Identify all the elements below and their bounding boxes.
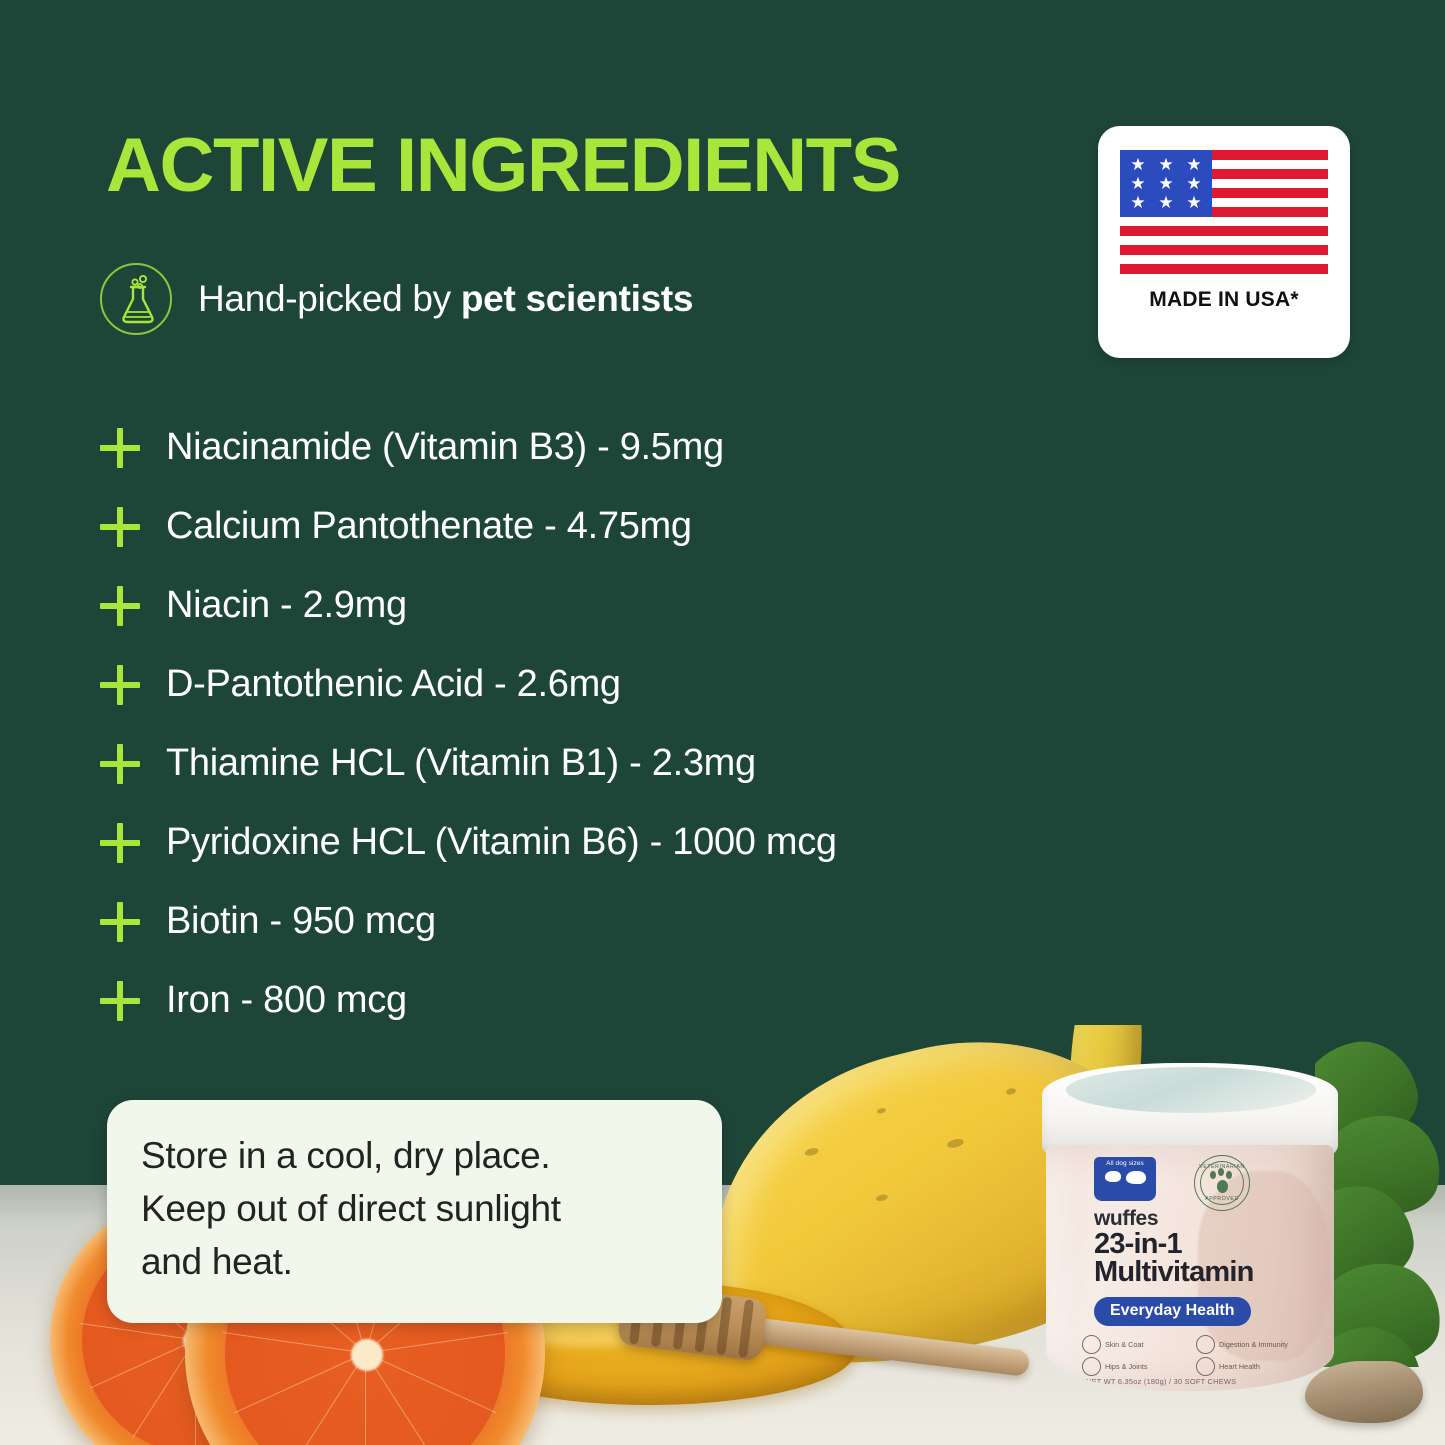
ingredient-label: Pyridoxine HCL (Vitamin B6) - 1000 mcg bbox=[166, 821, 837, 864]
ingredient-label: Calcium Pantothenate - 4.75mg bbox=[166, 505, 692, 548]
plus-icon bbox=[100, 428, 140, 468]
plus-icon bbox=[100, 981, 140, 1021]
flag-canton: ★★★★★★★★★ bbox=[1120, 150, 1212, 217]
ingredient-row: Niacinamide (Vitamin B3) - 9.5mg bbox=[100, 408, 1100, 487]
subtitle-emphasis: pet scientists bbox=[461, 278, 693, 319]
ingredient-label: Thiamine HCL (Vitamin B1) - 2.3mg bbox=[166, 742, 756, 785]
ingredient-row: Calcium Pantothenate - 4.75mg bbox=[100, 487, 1100, 566]
flask-icon bbox=[100, 263, 172, 335]
flag-star: ★ bbox=[1130, 157, 1146, 173]
storage-line-1: Store in a cool, dry place. bbox=[141, 1130, 688, 1183]
flag-star: ★ bbox=[1158, 176, 1174, 192]
flag-star: ★ bbox=[1186, 195, 1202, 211]
ingredient-label: D-Pantothenic Acid - 2.6mg bbox=[166, 663, 621, 706]
ingredient-label: Niacin - 2.9mg bbox=[166, 584, 407, 627]
plus-icon bbox=[100, 902, 140, 942]
ingredient-row: Thiamine HCL (Vitamin B1) - 2.3mg bbox=[100, 724, 1100, 803]
flag-star: ★ bbox=[1186, 157, 1202, 173]
plus-icon bbox=[100, 665, 140, 705]
plus-icon bbox=[100, 586, 140, 626]
page-title: ACTIVE INGREDIENTS bbox=[106, 128, 900, 204]
made-in-usa-badge: ★★★★★★★★★ MADE IN USA* bbox=[1098, 126, 1350, 358]
flag-star: ★ bbox=[1158, 157, 1174, 173]
plus-icon bbox=[100, 823, 140, 863]
made-in-usa-label: MADE IN USA* bbox=[1120, 288, 1328, 312]
subtitle-prefix: Hand-picked by bbox=[198, 278, 461, 319]
content-layer: ACTIVE INGREDIENTS Hand-picked by pet sc… bbox=[0, 0, 1445, 1445]
ingredient-list: Niacinamide (Vitamin B3) - 9.5mgCalcium … bbox=[100, 408, 1100, 1040]
flag-star: ★ bbox=[1130, 176, 1146, 192]
ingredient-label: Iron - 800 mcg bbox=[166, 979, 407, 1022]
subtitle-row: Hand-picked by pet scientists bbox=[100, 263, 693, 335]
storage-line-3: and heat. bbox=[141, 1236, 688, 1289]
ingredient-row: Biotin - 950 mcg bbox=[100, 882, 1100, 961]
storage-line-2: Keep out of direct sunlight bbox=[141, 1183, 688, 1236]
flag-star: ★ bbox=[1130, 195, 1146, 211]
flag-stripe bbox=[1120, 226, 1328, 236]
storage-instructions-card: Store in a cool, dry place. Keep out of … bbox=[107, 1100, 722, 1323]
ingredient-row: Iron - 800 mcg bbox=[100, 961, 1100, 1040]
ingredient-row: Niacin - 2.9mg bbox=[100, 566, 1100, 645]
flag-star: ★ bbox=[1186, 176, 1202, 192]
plus-icon bbox=[100, 507, 140, 547]
usa-flag-icon: ★★★★★★★★★ bbox=[1120, 150, 1328, 274]
plus-icon bbox=[100, 744, 140, 784]
ingredient-row: Pyridoxine HCL (Vitamin B6) - 1000 mcg bbox=[100, 803, 1100, 882]
flag-stripe bbox=[1120, 264, 1328, 274]
ingredient-row: D-Pantothenic Acid - 2.6mg bbox=[100, 645, 1100, 724]
flag-stripe bbox=[1120, 245, 1328, 255]
subtitle: Hand-picked by pet scientists bbox=[198, 278, 693, 320]
flag-star: ★ bbox=[1158, 195, 1174, 211]
product-ingredients-panel: All dog sizes VETERINARIAN APPROVED wuff… bbox=[0, 0, 1445, 1445]
ingredient-label: Niacinamide (Vitamin B3) - 9.5mg bbox=[166, 426, 724, 469]
ingredient-label: Biotin - 950 mcg bbox=[166, 900, 436, 943]
